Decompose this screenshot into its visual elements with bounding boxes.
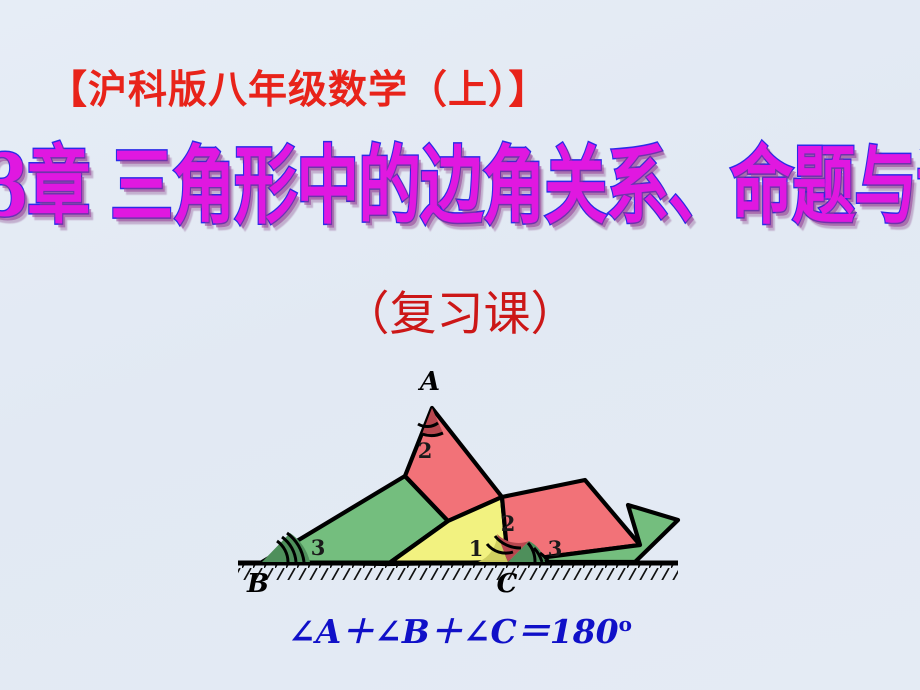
angle-number-c-green: 3 [548,536,563,561]
degree-symbol: o [619,612,632,636]
vertex-label-a: A [417,367,440,397]
geometry-figure: A B C 2 3 1 2 3 [0,360,920,630]
vertex-label-b: B [246,569,269,599]
baseline-hatched [238,563,678,580]
slide-canvas: 【沪科版八年级数学（上）】 第13章 三角形中的边角关系、命题与证明 （复习课） [0,0,920,690]
angle-sum-formula: ∠A＋∠B＋∠C＝180o [0,602,920,654]
angle-number-b: 3 [311,535,326,560]
angle-number-c-red: 2 [501,511,516,536]
page-title: 第13章 三角形中的边角关系、命题与证明 [0,136,920,236]
vertex-label-c: C [497,569,518,599]
edition-line: 【沪科版八年级数学（上）】 [0,64,920,116]
chapter-title-container: 第13章 三角形中的边角关系、命题与证明 [0,136,920,266]
angle-number-c-yellow: 1 [469,536,484,561]
subtitle: （复习课） [0,286,920,344]
formula-text: ∠A＋∠B＋∠C＝180 [288,612,619,651]
angle-number-a: 2 [418,438,433,463]
